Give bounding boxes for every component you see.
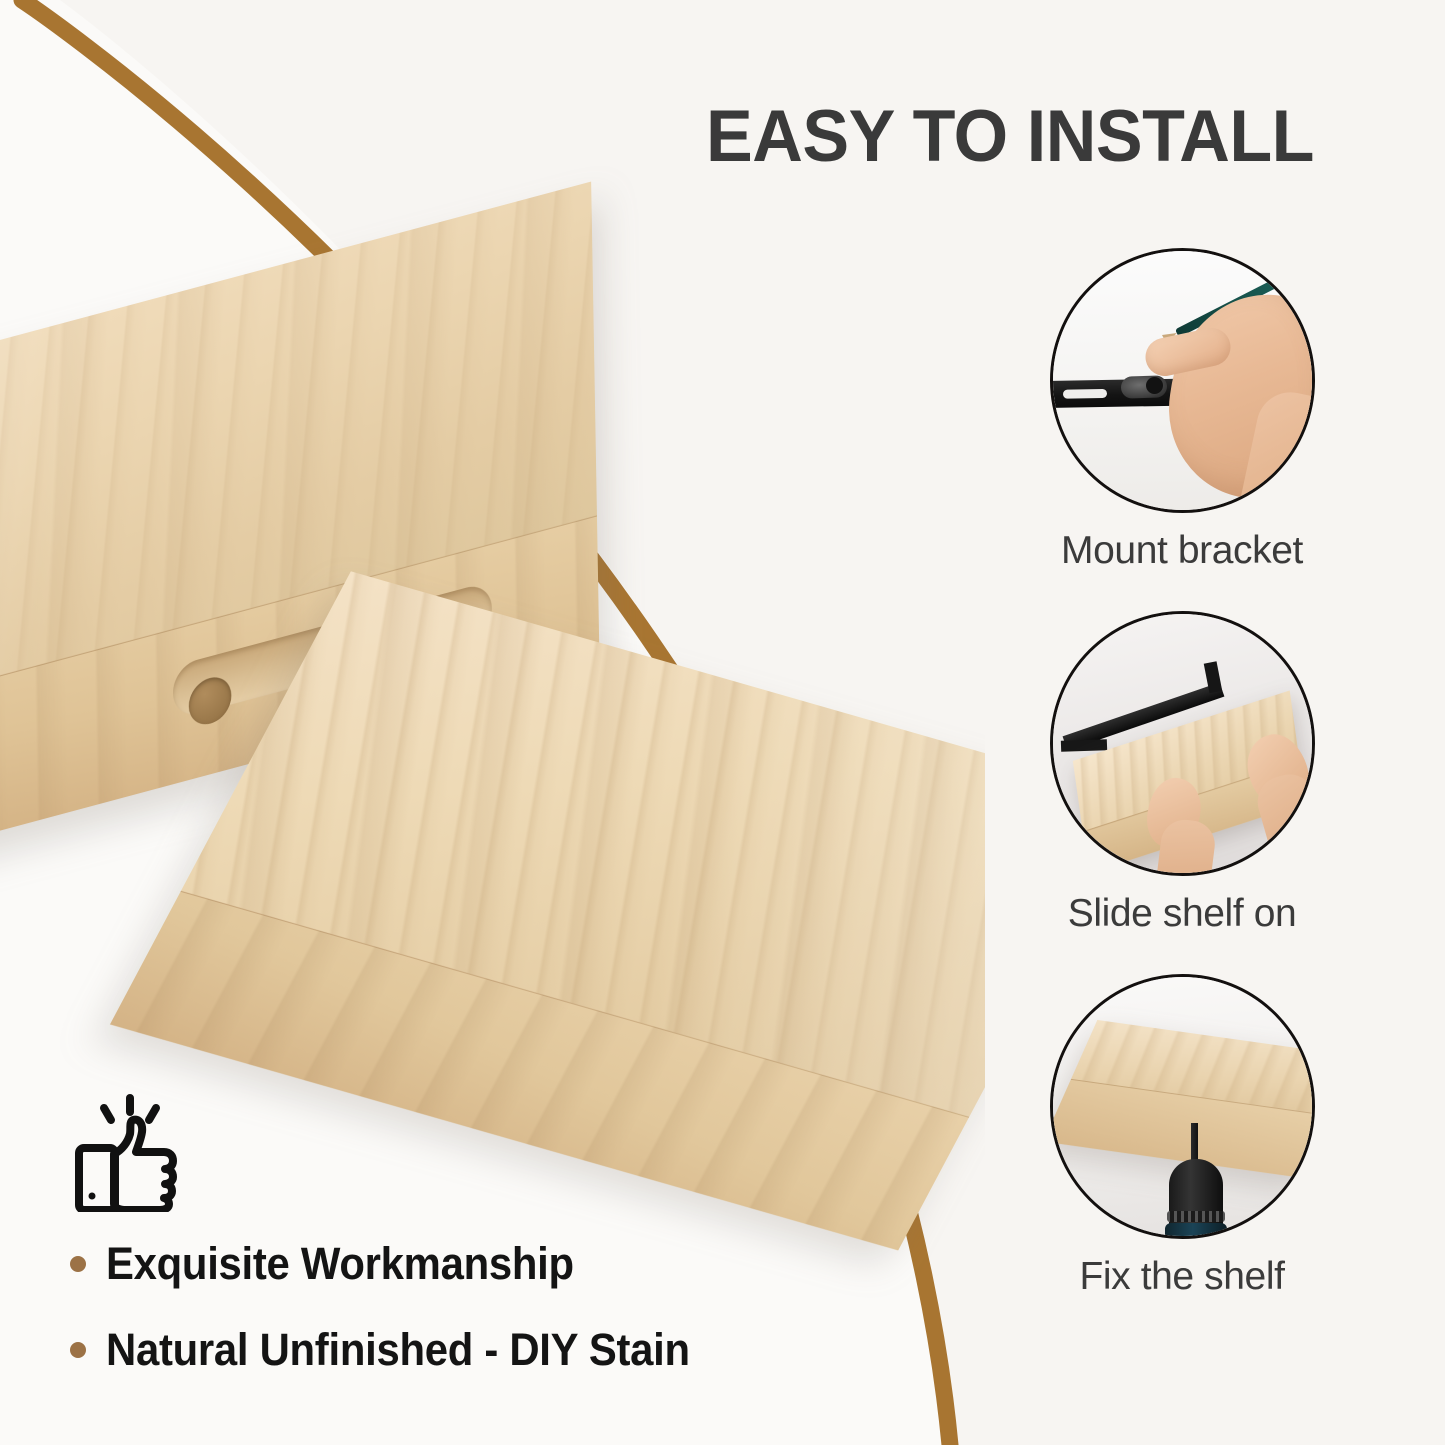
- step-image-slide-shelf-on: [1050, 611, 1315, 876]
- list-item: Natural Unfinished - DIY Stain: [70, 1324, 830, 1376]
- rail-foot: [1060, 739, 1106, 752]
- step-mount-bracket: Mount bracket: [1022, 248, 1342, 573]
- step-image-mount-bracket: [1050, 248, 1315, 513]
- step-label-fix-the-shelf: Fix the shelf: [1022, 1255, 1342, 1299]
- drill-grip: [1165, 1223, 1227, 1239]
- pencil-mark: [1146, 377, 1163, 394]
- thumbs-up-icon: [70, 1092, 182, 1212]
- page-title: EASY TO INSTALL: [631, 95, 1389, 178]
- step-image-fix-the-shelf: [1050, 974, 1315, 1239]
- install-steps: Mount bracket Slide shelf on: [1022, 248, 1342, 1337]
- bullet-icon: [70, 1256, 86, 1272]
- feature-text: Natural Unfinished - DIY Stain: [106, 1324, 690, 1376]
- list-item: Exquisite Workmanship: [70, 1238, 830, 1290]
- feature-text: Exquisite Workmanship: [106, 1238, 574, 1290]
- infographic-canvas: EASY TO INSTALL Mount bracket: [0, 0, 1445, 1445]
- feature-list: Exquisite Workmanship Natural Unfinished…: [70, 1238, 830, 1376]
- step-slide-shelf-on: Slide shelf on: [1022, 611, 1342, 936]
- drill-clutch-ring: [1167, 1211, 1225, 1222]
- step-label-slide-shelf-on: Slide shelf on: [1022, 892, 1342, 936]
- feature-block: Exquisite Workmanship Natural Unfinished…: [70, 1092, 830, 1410]
- bullet-icon: [70, 1342, 86, 1358]
- step-label-mount-bracket: Mount bracket: [1022, 529, 1342, 573]
- step-fix-the-shelf: Fix the shelf: [1022, 974, 1342, 1299]
